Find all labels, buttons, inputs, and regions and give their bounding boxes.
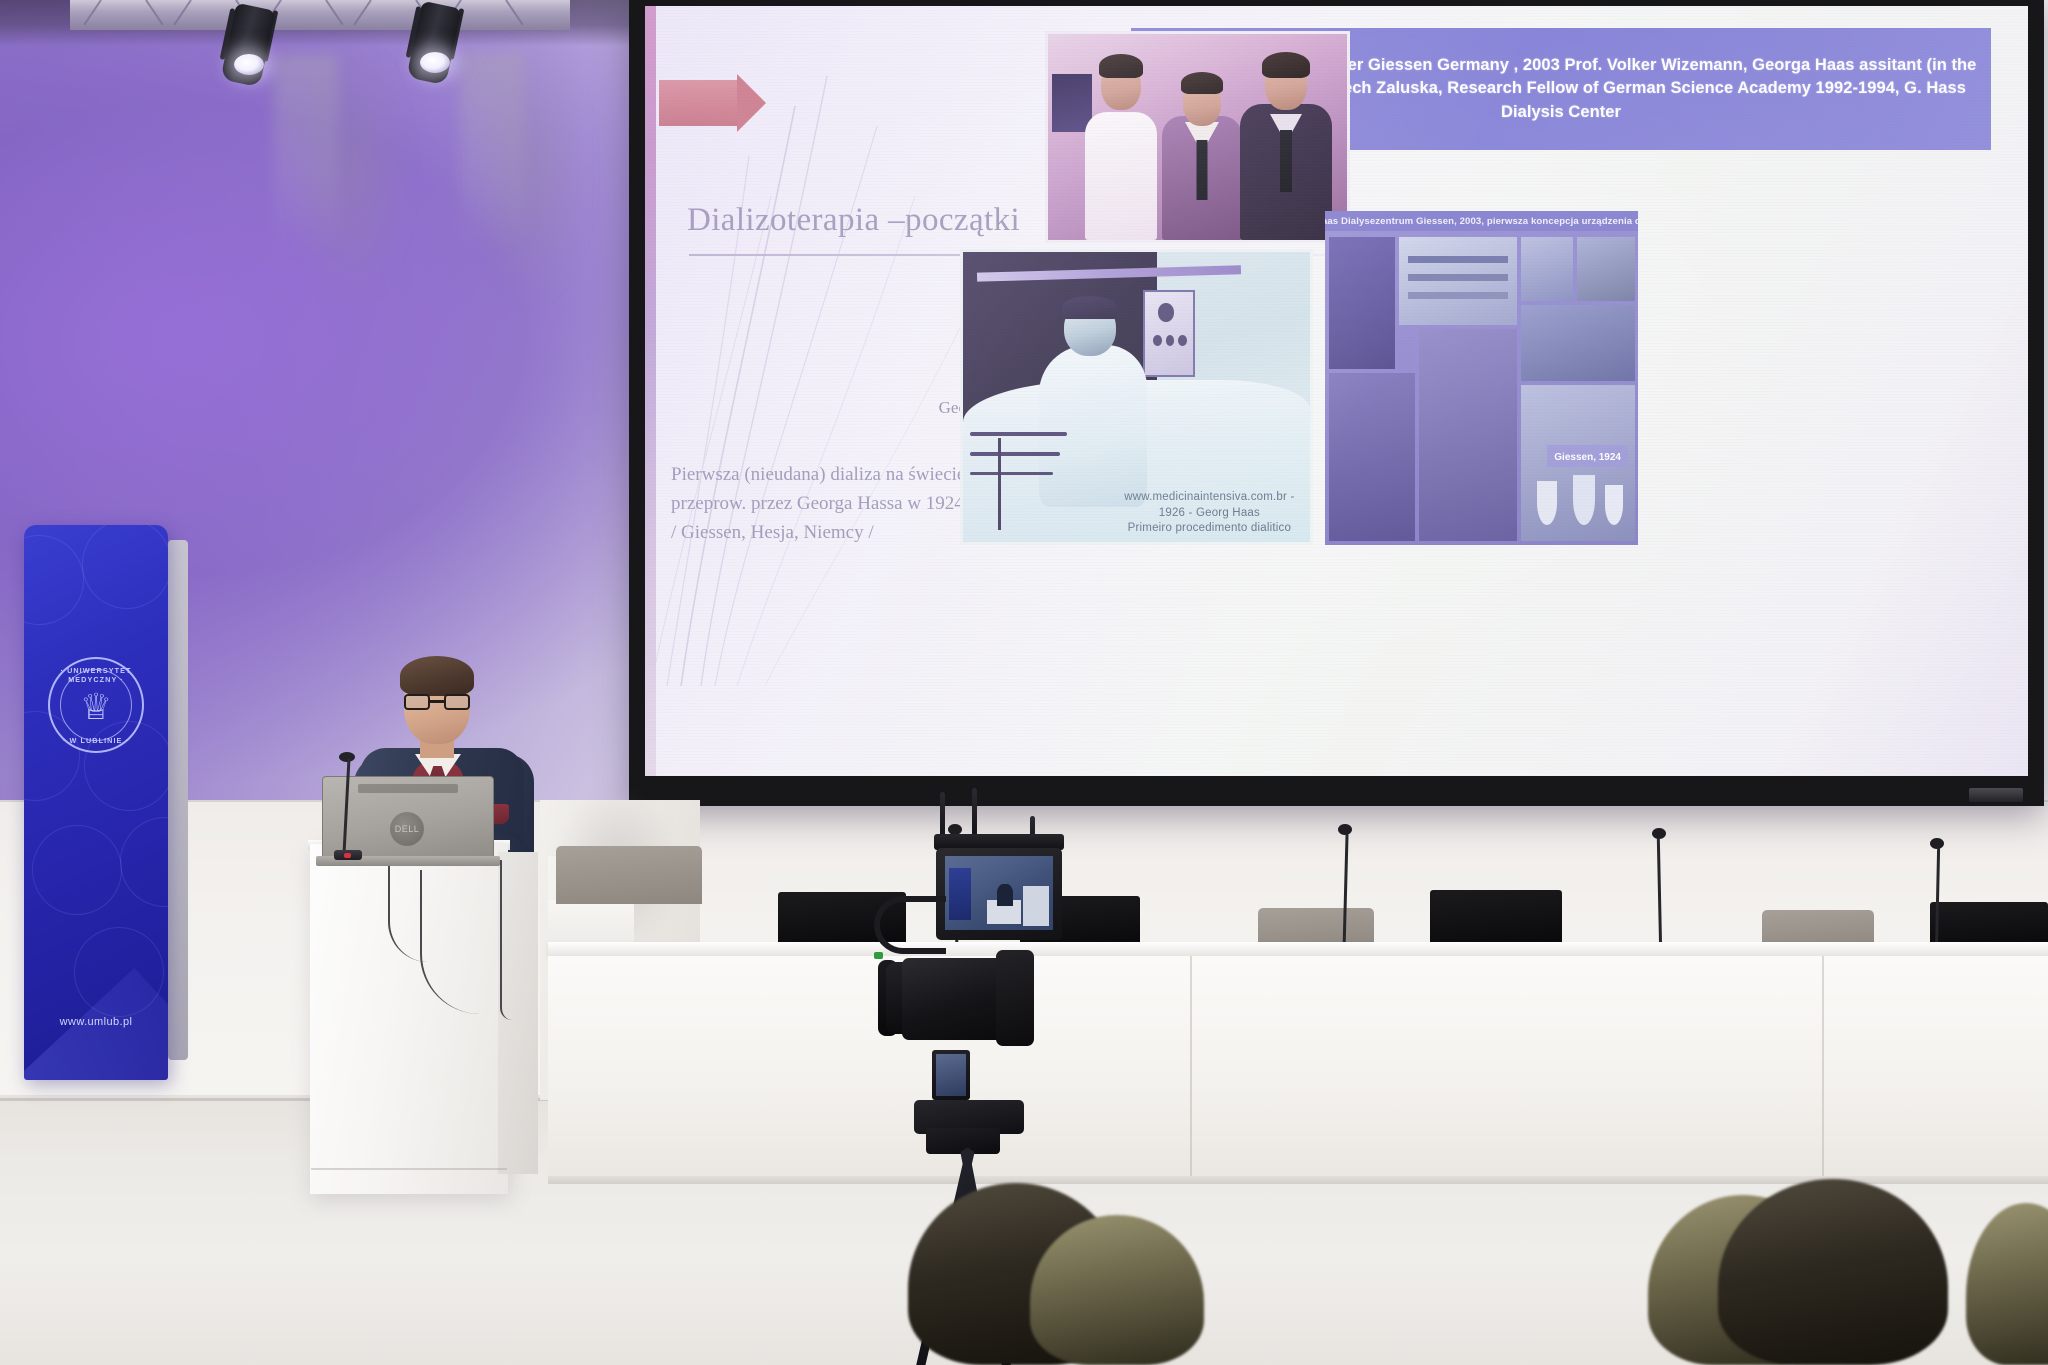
photo-three-men xyxy=(1045,31,1350,243)
montage-cell-7 xyxy=(1419,329,1517,541)
banner-support-pole xyxy=(168,540,188,1060)
crest-text-bottom: · W LUBLINIE · xyxy=(50,736,142,745)
historic-control-panel xyxy=(1143,290,1195,377)
person-suit-right xyxy=(1238,50,1334,240)
montage-cell-5 xyxy=(1521,305,1635,381)
dialysis-photo-credit: www.medicinaintensiva.com.br - 1926 - Ge… xyxy=(1116,490,1303,537)
podium-cable-3 xyxy=(500,860,512,1020)
screen-mount-bracket xyxy=(1969,788,2023,802)
camera-external-monitor[interactable] xyxy=(936,848,1062,940)
laptop-sticker-strip xyxy=(358,784,458,793)
lighting-truss xyxy=(70,0,570,30)
banner-url-text: www.umlub.pl xyxy=(24,1016,168,1028)
desk-panel-divider-1 xyxy=(1190,956,1192,1182)
spotlight-shadow-left xyxy=(290,36,410,306)
camera-grip[interactable] xyxy=(996,950,1034,1046)
camera-rod-right xyxy=(972,788,977,836)
panel-chair-0[interactable] xyxy=(556,846,702,904)
spotlight-shadow-right xyxy=(470,34,590,304)
camera-top-handle[interactable] xyxy=(874,896,946,954)
person-white-coat xyxy=(1082,54,1160,240)
montage-cell-2 xyxy=(1399,237,1517,325)
podium-seam xyxy=(311,1168,507,1170)
montage-caption-text: Georg Haas Dialysezentrum Giessen, 2003,… xyxy=(1325,216,1638,227)
camera-monitor-screen xyxy=(945,856,1053,930)
presentation-slide: Georg Haas Dialysis Center Giessen Germa… xyxy=(645,6,2028,776)
person-suit-middle xyxy=(1160,64,1244,240)
panel-chair-3[interactable] xyxy=(1430,890,1562,948)
university-crest-icon: · UNIWERSYTET MEDYCZNY · · W LUBLINIE · … xyxy=(48,657,144,753)
montage-cell-4 xyxy=(1577,237,1635,301)
conference-hall-scene: Georg Haas Dialysis Center Giessen Germa… xyxy=(0,0,2048,1365)
projection-screen-frame: Georg Haas Dialysis Center Giessen Germa… xyxy=(629,0,2044,806)
university-banner: · UNIWERSYTET MEDYCZNY · · W LUBLINIE · … xyxy=(24,525,168,1080)
laptop-brand-badge: DELL xyxy=(390,812,424,846)
microphone-status-led xyxy=(344,853,351,858)
camera-secondary-monitor[interactable] xyxy=(932,1050,970,1100)
montage-cell-6 xyxy=(1329,373,1415,541)
photo-first-dialysis: www.medicinaintensiva.com.br - 1926 - Ge… xyxy=(960,249,1313,545)
credit-line-3: Primeiro procedimento dialitico xyxy=(1116,521,1303,537)
panel-microphone-head-2 xyxy=(1338,824,1352,835)
eyeglasses-icon xyxy=(404,694,470,710)
speaker-hair xyxy=(400,656,474,696)
photo-montage-dialysezentrum: Georg Haas Dialysezentrum Giessen, 2003,… xyxy=(1325,211,1638,545)
panel-desk-top xyxy=(548,942,2048,956)
camera-rod-left xyxy=(940,792,945,840)
giessen-year-label: Giessen, 1924 xyxy=(1547,445,1628,467)
montage-caption-bar: Georg Haas Dialysezentrum Giessen, 2003,… xyxy=(1325,211,1638,231)
eagle-emblem-icon: ♕ xyxy=(73,686,119,728)
crest-text-top: · UNIWERSYTET MEDYCZNY · xyxy=(50,666,142,684)
giessen-year-text: Giessen, 1924 xyxy=(1554,452,1621,463)
credit-line-2: 1926 - Georg Haas xyxy=(1116,506,1303,522)
montage-cell-1 xyxy=(1329,237,1395,369)
projection-screen-surface[interactable]: Georg Haas Dialysis Center Giessen Germa… xyxy=(645,6,2028,776)
montage-cell-3 xyxy=(1521,237,1573,301)
slide-title: Dializoterapia –początki xyxy=(687,202,1020,239)
desk-panel-divider-2 xyxy=(1822,956,1824,1182)
credit-line-1: www.medicinaintensiva.com.br - xyxy=(1116,490,1303,506)
camera-indicator-light xyxy=(874,952,883,959)
